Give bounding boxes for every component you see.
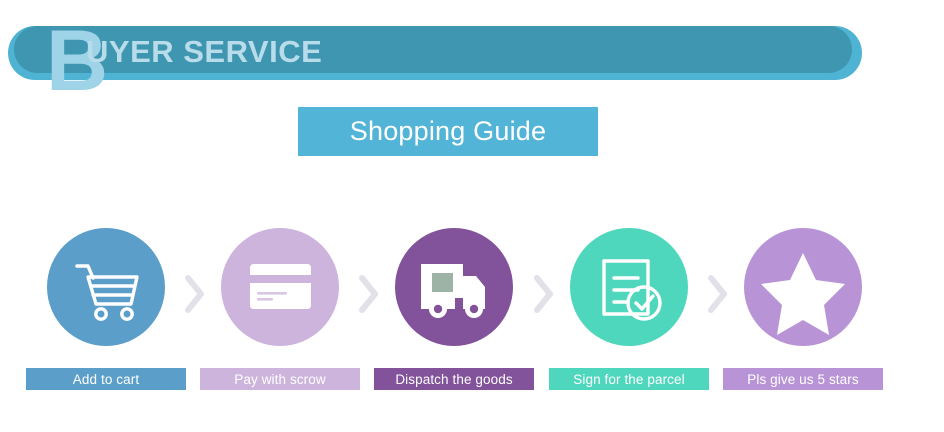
shopping-steps-row: Add to cart Pay with scrow Dispatch the … (0, 228, 944, 398)
step-sign-parcel[interactable]: Sign for the parcel (549, 228, 709, 398)
step-label: Pay with scrow (200, 368, 360, 390)
step-label: Pls give us 5 stars (723, 368, 883, 390)
step-label: Dispatch the goods (374, 368, 534, 390)
chevron-right-icon (181, 272, 207, 316)
step-label: Sign for the parcel (549, 368, 709, 390)
page-title: UYER SERVICE (86, 35, 322, 69)
credit-card-icon (221, 228, 339, 346)
delivery-truck-icon (395, 228, 513, 346)
header-banner: B UYER SERVICE (8, 26, 862, 80)
step-add-to-cart[interactable]: Add to cart (26, 228, 186, 398)
chevron-right-icon (355, 272, 381, 316)
section-title-banner: Shopping Guide (298, 107, 598, 156)
step-pay-with-escrow[interactable]: Pay with scrow (200, 228, 360, 398)
document-check-icon (570, 228, 688, 346)
shopping-cart-icon (47, 228, 165, 346)
section-title-label: Shopping Guide (298, 107, 598, 156)
star-icon (744, 228, 862, 346)
step-dispatch-goods[interactable]: Dispatch the goods (374, 228, 534, 398)
chevron-right-icon (530, 272, 556, 316)
chevron-right-icon (704, 272, 730, 316)
step-label: Add to cart (26, 368, 186, 390)
step-rate-five-stars[interactable]: Pls give us 5 stars (723, 228, 883, 398)
